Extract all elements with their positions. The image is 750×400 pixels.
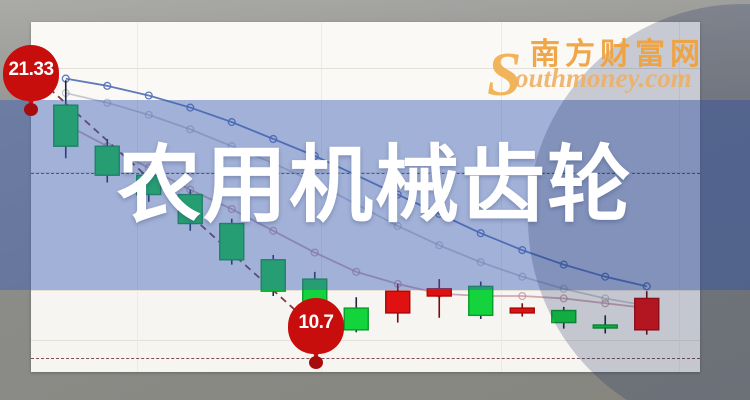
stock-chart-card	[31, 22, 700, 372]
screenshot-root: S 南方财富网 outhmoney.com 农用机械齿轮 21.33 10.7	[0, 0, 750, 400]
ma-line-gray	[62, 90, 650, 309]
chart-clip	[31, 22, 700, 372]
candlestick-chart	[31, 22, 700, 372]
ma-line-pink	[62, 121, 650, 311]
